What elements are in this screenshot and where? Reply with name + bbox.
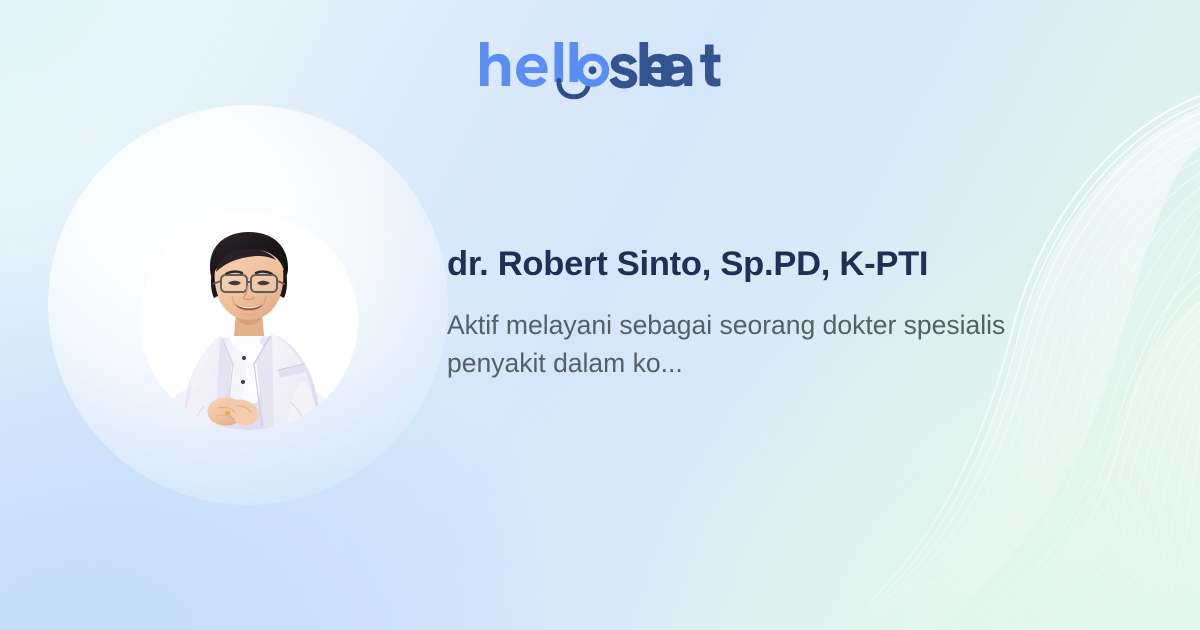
- avatar: [140, 212, 358, 430]
- doctor-portrait-photo: [140, 212, 358, 430]
- doctor-description: Aktif melayani sebagai seorang dokter sp…: [447, 306, 1027, 382]
- page-title: dr. Robert Sinto, Sp.PD, K-PTI: [447, 244, 1047, 284]
- doctor-info-block: dr. Robert Sinto, Sp.PD, K-PTI Aktif mel…: [447, 244, 1047, 382]
- doctor-profile-share-card: dr. Robert Sinto, Sp.PD, K-PTI Aktif mel…: [0, 0, 1200, 630]
- hellosehat-logo[interactable]: [0, 38, 1200, 100]
- stethoscope-o-icon: [478, 38, 722, 100]
